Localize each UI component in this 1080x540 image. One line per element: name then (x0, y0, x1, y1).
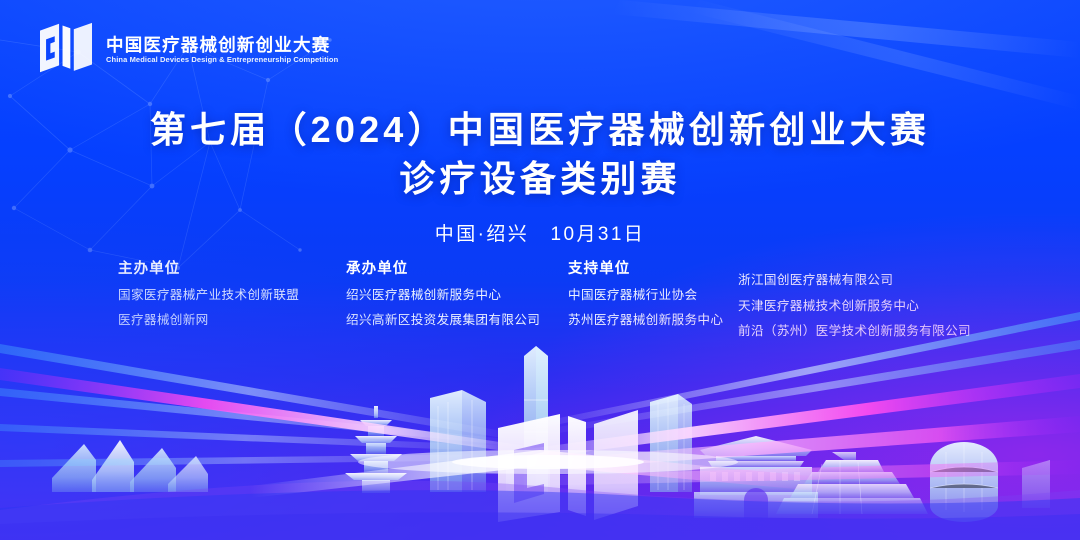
event-location-date: 中国·绍兴 10月31日 (0, 219, 1080, 246)
title-block: 第七届（2024）中国医疗器械创新创业大赛 诊疗设备类别赛 中国·绍兴 10月3… (0, 106, 1080, 246)
event-poster: 中国医疗器械创新创业大赛 China Medical Devices Desig… (0, 0, 1080, 540)
open-book-window-logo-icon (38, 22, 94, 74)
organizer-heading: 主办单位 (118, 262, 346, 277)
brand-name-en: China Medical Devices Design & Entrepren… (106, 56, 338, 64)
organizer-item: 绍兴医疗器械创新服务中心 (346, 289, 568, 302)
organizer-heading: 承办单位 (346, 262, 568, 277)
page-title: 第七届（2024）中国医疗器械创新创业大赛 (0, 106, 1080, 155)
brand-name-cn: 中国医疗器械创新创业大赛 (106, 36, 341, 54)
organizer-item: 国家医疗器械产业技术创新联盟 (118, 289, 346, 302)
brand-logo: 中国医疗器械创新创业大赛 China Medical Devices Desig… (38, 22, 341, 74)
light-streaks-icon (0, 310, 1080, 540)
organizer-item: 中国医疗器械行业协会 (568, 289, 738, 302)
organizer-heading: 支持单位 (568, 262, 738, 277)
organizer-item: 浙江国创医疗器械有限公司 (738, 274, 998, 287)
page-subtitle: 诊疗设备类别赛 (0, 155, 1080, 204)
